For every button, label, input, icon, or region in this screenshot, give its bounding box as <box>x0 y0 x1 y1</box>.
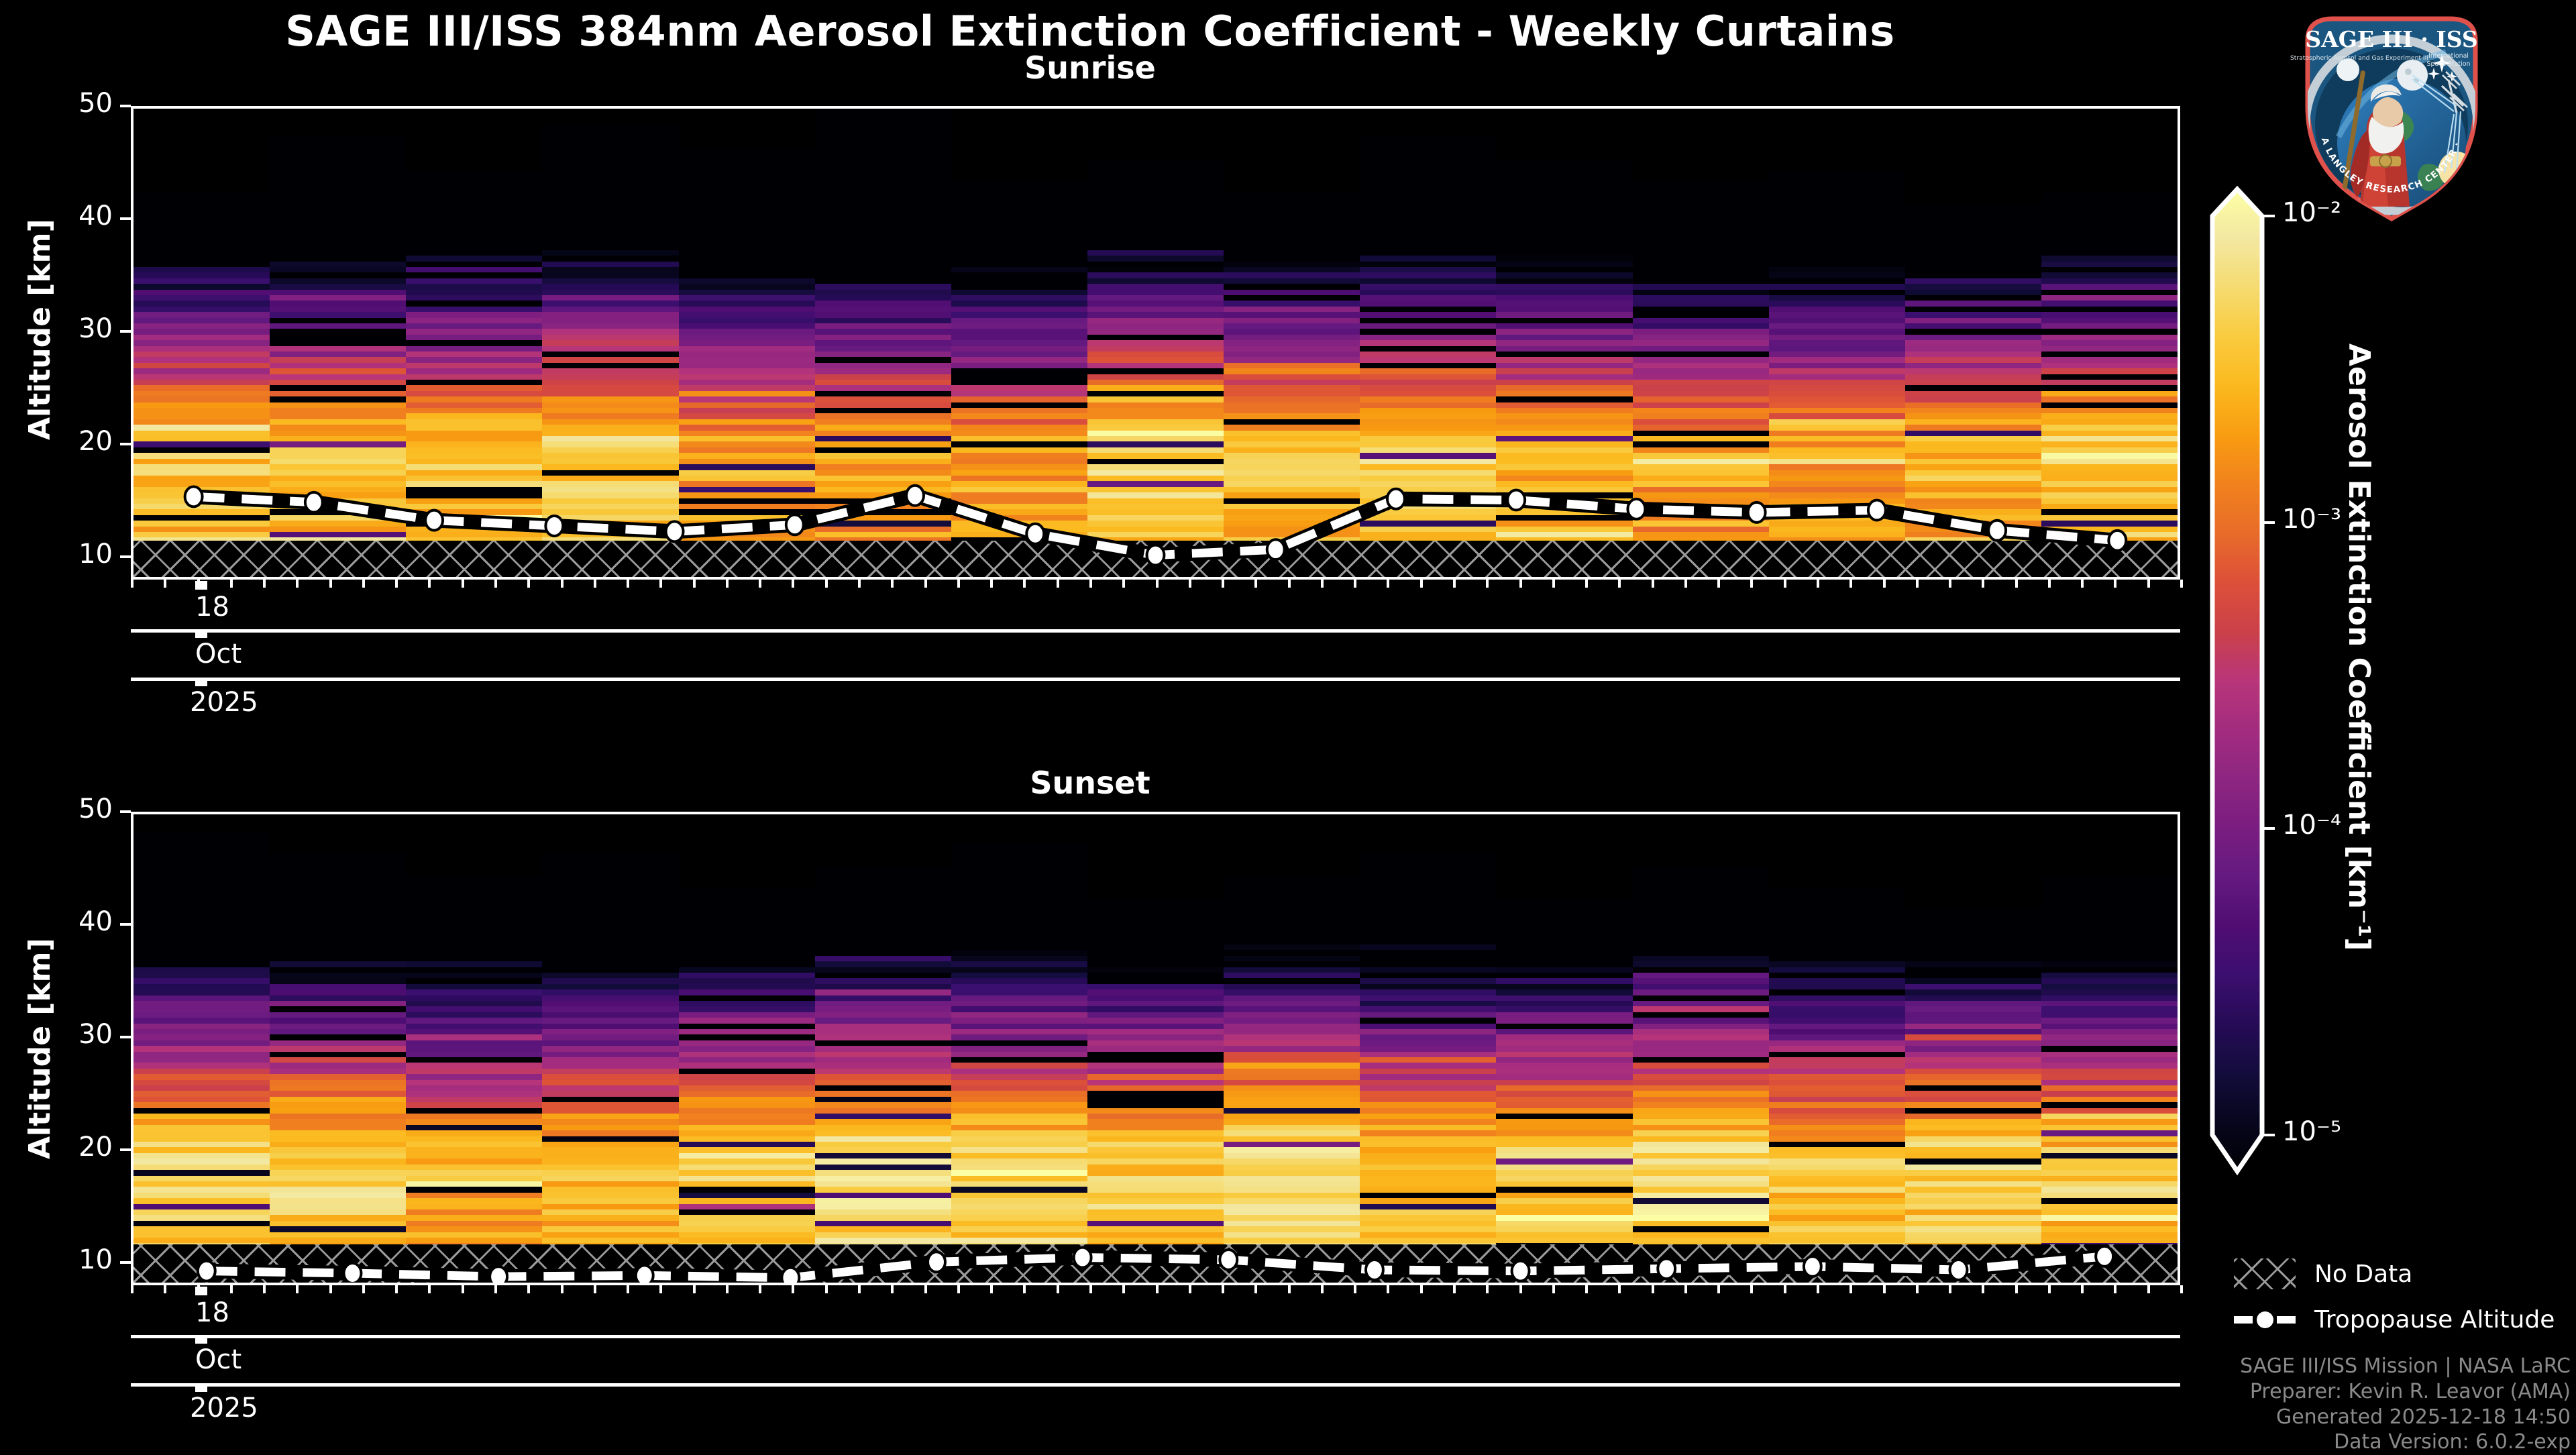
curtain-cell <box>815 509 951 515</box>
curtain-week-column <box>406 109 542 577</box>
curtain-cell <box>1360 498 1496 504</box>
x-minor-tick <box>957 1285 960 1293</box>
curtain-cell <box>1769 441 1905 447</box>
curtain-cell <box>2041 503 2178 509</box>
curtain-cell <box>2041 470 2178 476</box>
curtain-cell <box>1633 266 1769 272</box>
curtain-cell <box>1360 887 1496 894</box>
curtain-cell <box>1496 1170 1632 1176</box>
curtain-cell <box>133 1152 270 1158</box>
curtain-cell <box>542 509 678 515</box>
x-minor-tick <box>1420 580 1423 588</box>
curtain-cell <box>406 1079 542 1085</box>
curtain-cell <box>406 1226 542 1232</box>
curtain-cell <box>951 1023 1087 1029</box>
curtain-cell <box>1087 329 1224 335</box>
curtain-cell <box>951 475 1087 481</box>
curtain-cell <box>1087 1237 1224 1243</box>
curtain-cell <box>1633 1068 1769 1074</box>
curtain-cell <box>542 1164 678 1170</box>
curtain-cell <box>679 1152 815 1158</box>
curtain-cell <box>1224 1130 1360 1136</box>
curtain-cell <box>815 120 951 126</box>
curtain-cell <box>2041 1057 2178 1063</box>
curtain-cell <box>815 1215 951 1221</box>
curtain-cell <box>1769 1023 1905 1029</box>
curtain-cell <box>270 329 406 335</box>
curtain-cell <box>133 475 270 481</box>
curtain-cell <box>1087 357 1224 363</box>
curtain-cell <box>1224 407 1360 413</box>
curtain-cell <box>1496 1034 1632 1040</box>
curtain-cell <box>406 1085 542 1091</box>
curtain-cell <box>1087 1028 1224 1034</box>
curtain-cell <box>1496 967 1632 973</box>
curtain-cell <box>951 876 1087 882</box>
curtain-cell <box>1633 876 1769 882</box>
curtain-cell <box>406 233 542 239</box>
legend-item-no-data[interactable]: No Data <box>2234 1258 2412 1289</box>
curtain-cell <box>2041 989 2178 995</box>
curtain-cell <box>1769 1232 1905 1238</box>
curtain-cell <box>270 368 406 374</box>
curtain-week-column <box>1496 814 1632 1283</box>
curtain-cell <box>133 1040 270 1046</box>
curtain-cell <box>679 210 815 216</box>
figure-canvas: SAGE III/ISS 384nm Aerosol Extinction Co… <box>0 0 2576 1449</box>
curtain-cell <box>1224 1057 1360 1063</box>
curtain-cell <box>133 837 270 843</box>
curtain-cell <box>406 1068 542 1074</box>
colorbar[interactable]: 10⁻²10⁻³10⁻⁴10⁻⁵ Aerosol Extinction Coef… <box>2208 185 2490 1205</box>
curtain-cell <box>679 967 815 973</box>
curtain-cell <box>1633 193 1769 199</box>
curtain-cell <box>1905 927 2041 933</box>
curtain-cell <box>815 1203 951 1209</box>
curtain-cell <box>1087 470 1224 476</box>
curtain-cell <box>270 1085 406 1091</box>
curtain-cell <box>1224 294 1360 301</box>
curtain-cell <box>1769 1136 1905 1142</box>
curtain-cell <box>951 922 1087 928</box>
x-minor-tick <box>329 580 332 588</box>
curtain-cell <box>1224 227 1360 233</box>
curtain-cell <box>679 916 815 922</box>
curtain-cell <box>1224 1068 1360 1074</box>
curtain-cell <box>1360 503 1496 509</box>
curtain-cell <box>542 278 678 284</box>
curtain-cell <box>1633 961 1769 967</box>
curtain-cell <box>1360 137 1496 143</box>
curtain-cell <box>2041 244 2178 250</box>
curtain-cell <box>406 1018 542 1024</box>
curtain-cell <box>270 1068 406 1074</box>
curtain-cell <box>815 470 951 476</box>
curtain-cell <box>815 301 951 307</box>
curtain-cell <box>1087 1203 1224 1209</box>
curtain-cell <box>951 843 1087 849</box>
curtain-cell <box>542 301 678 307</box>
curtain-cell <box>1633 396 1769 402</box>
curtain-cell <box>270 137 406 143</box>
curtain-cell <box>1633 233 1769 239</box>
curtain-cell <box>406 927 542 933</box>
curtain-cell <box>815 244 951 250</box>
x-minor-tick <box>1288 1285 1291 1293</box>
curtain-cell <box>679 340 815 346</box>
curtain-cell <box>1087 498 1224 504</box>
curtain-cell <box>679 486 815 492</box>
curtain-cell <box>406 312 542 318</box>
curtain-cell <box>1769 210 1905 216</box>
x-minor-tick <box>2114 580 2116 588</box>
curtain-cell <box>1360 199 1496 205</box>
curtain-cell <box>815 1181 951 1187</box>
x-minor-tick <box>1883 1285 1886 1293</box>
curtain-cell <box>1360 385 1496 391</box>
curtain-cell <box>270 447 406 453</box>
curtain-cell <box>1633 256 1769 262</box>
curtain-cell <box>1905 430 2041 436</box>
curtain-cell <box>406 1198 542 1204</box>
curtain-cell <box>951 351 1087 357</box>
curtain-cell <box>951 261 1087 267</box>
curtain-cell <box>1633 503 1769 509</box>
x-minor-tick <box>726 580 729 588</box>
curtain-cell <box>133 272 270 278</box>
curtain-cell <box>542 390 678 396</box>
curtain-cell <box>951 515 1087 521</box>
curtain-cell <box>815 865 951 871</box>
x-minor-tick <box>395 580 398 588</box>
curtain-cell <box>1633 887 1769 894</box>
curtain-cell <box>542 967 678 973</box>
curtain-cell <box>1633 1057 1769 1063</box>
curtain-cell <box>406 1158 542 1165</box>
curtain-cell <box>133 1130 270 1136</box>
curtain-cell <box>1224 301 1360 307</box>
curtain-cell <box>1087 1074 1224 1080</box>
curtain-cell <box>679 165 815 171</box>
curtain-cell <box>815 210 951 216</box>
curtain-cell <box>1087 413 1224 419</box>
curtain-cell <box>133 216 270 222</box>
curtain-cell <box>1087 1063 1224 1069</box>
curtain-cell <box>1633 995 1769 1001</box>
x-minor-tick <box>1321 580 1324 588</box>
curtain-cell <box>1496 345 1632 352</box>
x-minor-tick <box>891 580 894 588</box>
curtain-cell <box>406 345 542 352</box>
curtain-cell <box>406 1209 542 1215</box>
panel-sunset: Sunset Altitude [km] 1020304050 18 Oct 2… <box>0 743 2180 1280</box>
curtain-cell <box>951 294 1087 301</box>
curtain-cell <box>1496 312 1632 318</box>
curtain-cell <box>133 492 270 498</box>
curtain-cell <box>951 1074 1087 1080</box>
curtain-cell <box>133 1209 270 1215</box>
curtain-cell <box>270 294 406 301</box>
curtain-cell <box>2041 368 2178 374</box>
curtain-cell <box>951 961 1087 967</box>
curtain-cell <box>133 250 270 256</box>
curtain-cell <box>1496 1220 1632 1226</box>
curtain-cell <box>1905 1192 2041 1198</box>
plot-area-sunset[interactable] <box>131 812 2180 1285</box>
curtain-cell <box>406 1074 542 1080</box>
curtain-cell <box>542 142 678 148</box>
curtain-cell <box>1769 306 1905 312</box>
curtain-cell <box>542 1012 678 1018</box>
curtain-cell <box>1087 927 1224 933</box>
curtain-cell <box>406 199 542 205</box>
curtain-cell <box>951 955 1087 961</box>
curtain-cell <box>1224 238 1360 244</box>
curtain-cell <box>1496 972 1632 978</box>
curtain-cell <box>1496 983 1632 989</box>
curtain-cell <box>406 876 542 882</box>
curtain-cell <box>951 1158 1087 1165</box>
curtain-cell <box>1769 323 1905 329</box>
curtain-cell <box>1224 1102 1360 1108</box>
curtain-cell <box>2041 210 2178 216</box>
curtain-cell <box>1087 306 1224 312</box>
curtain-cell <box>1769 1220 1905 1226</box>
curtain-cell <box>1360 492 1496 498</box>
curtain-week-column <box>542 109 678 577</box>
curtain-cell <box>815 1074 951 1080</box>
curtain-cell <box>1360 1136 1496 1142</box>
curtain-cell <box>542 515 678 521</box>
curtain-cell <box>542 922 678 928</box>
x-minor-tick <box>990 580 993 588</box>
curtain-cell <box>1224 1152 1360 1158</box>
curtain-cell <box>679 188 815 194</box>
curtain-cell <box>815 345 951 352</box>
curtain-cell <box>406 1170 542 1176</box>
curtain-cell <box>133 1141 270 1147</box>
curtain-cell <box>2041 238 2178 244</box>
curtain-cell <box>1769 379 1905 385</box>
x-minor-tick <box>1717 580 1720 588</box>
curtain-cell <box>270 1130 406 1136</box>
curtain-cell <box>1087 1164 1224 1170</box>
curtain-cell <box>542 413 678 419</box>
curtain-cell <box>406 362 542 368</box>
curtain-cell <box>133 193 270 199</box>
curtain-cell <box>1224 1203 1360 1209</box>
curtain-cell <box>1633 1152 1769 1158</box>
curtain-cell <box>1633 306 1769 312</box>
curtain-cell <box>1224 244 1360 250</box>
curtain-cell <box>951 481 1087 487</box>
curtain-cell <box>542 125 678 131</box>
curtain-cell <box>1496 379 1632 385</box>
curtain-cell <box>270 1023 406 1029</box>
curtain-cell <box>951 402 1087 408</box>
curtain-cell <box>133 887 270 894</box>
curtain-cell <box>133 894 270 900</box>
curtain-cell <box>542 1096 678 1102</box>
curtain-cell <box>679 1170 815 1176</box>
curtain-cell <box>133 1136 270 1142</box>
curtain-cell <box>1087 188 1224 194</box>
curtain-cell <box>951 323 1087 329</box>
curtain-cell <box>1633 182 1769 188</box>
curtain-cell <box>951 1232 1087 1238</box>
curtain-cell <box>1360 362 1496 368</box>
curtain-cell <box>1769 1012 1905 1018</box>
curtain-cell <box>1496 1198 1632 1204</box>
curtain-cell <box>542 481 678 487</box>
x-minor-tick <box>561 580 563 588</box>
curtain-cell <box>679 1091 815 1097</box>
curtain-cell <box>133 950 270 956</box>
curtain-cell <box>2041 351 2178 357</box>
curtain-cell <box>679 160 815 166</box>
legend-item-tropopause[interactable]: Tropopause Altitude <box>2234 1304 2555 1335</box>
curtain-cell <box>1905 1141 2041 1147</box>
curtain-cell <box>1496 944 1632 950</box>
curtain-cell <box>1360 1237 1496 1243</box>
curtain-cell <box>1905 294 2041 301</box>
curtain-cell <box>133 441 270 447</box>
curtain-cell <box>951 989 1087 995</box>
curtain-cell <box>542 865 678 871</box>
curtain-cell <box>270 160 406 166</box>
curtain-cell <box>2041 390 2178 396</box>
curtain-cell <box>1360 1203 1496 1209</box>
curtain-cell <box>270 910 406 916</box>
curtain-cell <box>2041 1102 2178 1108</box>
curtain-cell <box>133 1018 270 1024</box>
curtain-cell <box>679 323 815 329</box>
curtain-cell <box>679 989 815 995</box>
x-minor-tick <box>990 1285 993 1293</box>
curtain-cell <box>951 1187 1087 1193</box>
curtain-cell <box>542 289 678 295</box>
curtain-cell <box>270 989 406 995</box>
curtain-cell <box>542 938 678 945</box>
x-minor-tick <box>1982 1285 1984 1293</box>
curtain-cell <box>1087 233 1224 239</box>
curtain-cell <box>1224 1209 1360 1215</box>
curtain-cell <box>815 137 951 143</box>
curtain-cell <box>270 1096 406 1102</box>
curtain-cell <box>542 1158 678 1165</box>
curtain-cell <box>133 1000 270 1006</box>
curtain-cell <box>406 470 542 476</box>
curtain-cell <box>951 995 1087 1001</box>
curtain-cell <box>542 205 678 211</box>
curtain-cell <box>1087 1198 1224 1204</box>
curtain-week-column <box>2041 814 2178 1283</box>
curtain-cell <box>1769 1102 1905 1108</box>
curtain-cell <box>679 1232 815 1238</box>
curtain-cell <box>679 1028 815 1034</box>
curtain-cell <box>542 1079 678 1085</box>
curtain-cell <box>1633 481 1769 487</box>
x-minor-tick <box>230 580 233 588</box>
curtain-cell <box>1496 950 1632 956</box>
curtain-cell <box>679 374 815 380</box>
curtain-cell <box>1087 368 1224 374</box>
curtain-cell <box>1905 526 2041 532</box>
curtain-cell <box>815 1220 951 1226</box>
curtain-cell <box>133 933 270 939</box>
no-data-hatch-icon <box>2234 1258 2296 1289</box>
curtain-cell <box>270 210 406 216</box>
curtain-cell <box>2041 1209 2178 1215</box>
curtain-cell <box>1087 1147 1224 1153</box>
curtain-cell <box>133 989 270 995</box>
curtain-cell <box>679 1226 815 1232</box>
curtain-cell <box>951 1091 1087 1097</box>
curtain-cell <box>951 916 1087 922</box>
curtain-cell <box>2041 1192 2178 1198</box>
curtain-cell <box>133 1046 270 1052</box>
x-minor-tick <box>1354 580 1356 588</box>
curtain-cell <box>1360 515 1496 521</box>
curtain-cell <box>1633 430 1769 436</box>
curtain-cell <box>2041 1085 2178 1091</box>
curtain-cell <box>1496 933 1632 939</box>
curtain-cell <box>1224 256 1360 262</box>
curtain-cell <box>133 1147 270 1153</box>
curtain-cell <box>1905 1203 2041 1209</box>
curtain-cell <box>951 1113 1087 1119</box>
curtain-cell <box>1360 904 1496 910</box>
curtain-cell <box>1224 1220 1360 1226</box>
curtain-cell <box>1496 1085 1632 1091</box>
curtain-cell <box>1769 205 1905 211</box>
curtain-cell <box>2041 1220 2178 1226</box>
curtain-cell <box>1087 1175 1224 1181</box>
curtain-cell <box>542 1237 678 1243</box>
curtain-cell <box>2041 933 2178 939</box>
curtain-week-column <box>1769 814 1905 1283</box>
curtain-cell <box>1905 989 2041 995</box>
x-minor-tick <box>627 580 629 588</box>
plot-area-sunrise[interactable] <box>131 106 2180 580</box>
date-label-month: Oct <box>195 1344 241 1375</box>
curtain-cell <box>1769 1130 1905 1136</box>
curtain-cell <box>1360 188 1496 194</box>
curtain-cell <box>1633 933 1769 939</box>
curtain-cell <box>1087 515 1224 521</box>
curtain-cell <box>1905 1057 2041 1063</box>
curtain-cell <box>815 464 951 470</box>
curtain-cell <box>1633 351 1769 357</box>
curtain-cell <box>542 1119 678 1125</box>
x-minor-tick <box>1089 1285 1092 1293</box>
curtain-cell <box>1496 458 1632 464</box>
curtain-cell <box>1769 340 1905 346</box>
curtain-cell <box>270 854 406 860</box>
curtain-cell <box>1496 188 1632 194</box>
curtain-week-column <box>1087 109 1224 577</box>
curtain-cell <box>679 1141 815 1147</box>
curtain-cell <box>1633 910 1769 916</box>
curtain-cell <box>133 526 270 532</box>
curtain-cell <box>1769 244 1905 250</box>
curtain-cell <box>1769 1192 1905 1198</box>
curtain-cell <box>815 1141 951 1147</box>
curtain-cell <box>1769 1000 1905 1006</box>
curtain-cell <box>1905 278 2041 284</box>
curtain-cell <box>1633 1091 1769 1097</box>
curtain-cell <box>406 351 542 357</box>
